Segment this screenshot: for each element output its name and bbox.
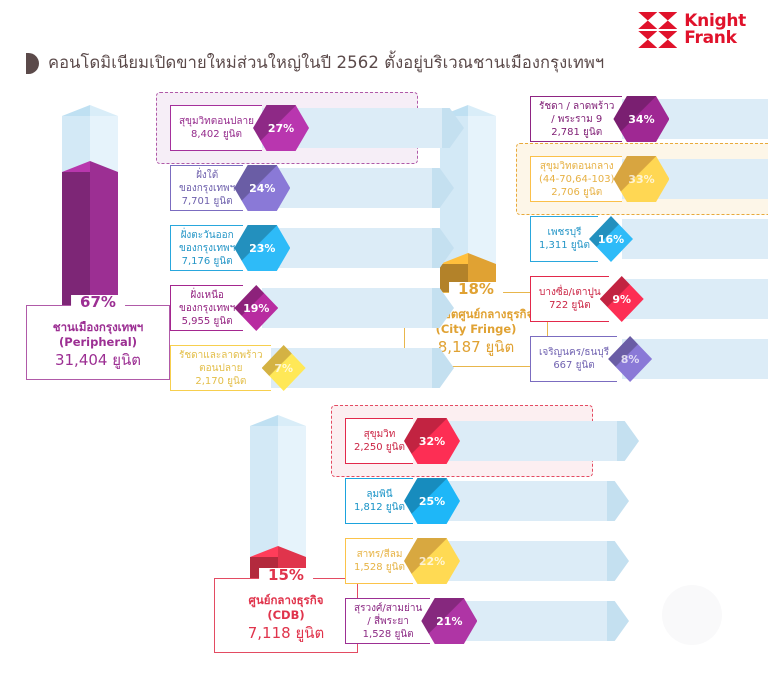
title-bullet-icon [26, 53, 39, 74]
row-hexagon-wrap: 23% [234, 225, 290, 271]
summary-units: 7,118 ยูนิต [219, 626, 353, 641]
row-units: 722 ยูนิต [549, 299, 590, 312]
row-label-line: ลุมพินี [366, 488, 392, 501]
row-hexagon-wrap: 33% [613, 156, 669, 202]
row-units: 2,250 ยูนิต [354, 441, 405, 454]
row-track-bar [622, 279, 768, 319]
row-label: สุรวงศ์/สามย่าน/ สี่พระยา1,528 ยูนิต [345, 598, 430, 644]
row-label-line: รัชดาและลาดพร้าว [179, 349, 263, 362]
row-hexagon-wrap: 25% [404, 478, 460, 524]
row-units: 8,402 ยูนิต [191, 128, 242, 141]
data-row-cbd-2[interactable]: สาทร/สีลม1,528 ยูนิต22% [345, 535, 460, 587]
row-percent-hexagon: 21% [421, 598, 477, 644]
row-label-line: ของกรุงเทพฯ [179, 242, 235, 255]
row-label-line: / สี่พระยา [367, 615, 408, 628]
row-units: 2,170 ยูนิต [195, 375, 246, 388]
row-track-bar [622, 219, 768, 259]
row-hexagon-wrap: 21% [421, 598, 477, 644]
row-hexagon-wrap: 27% [253, 105, 309, 151]
row-percent-hexagon: 9% [600, 276, 644, 322]
knight-frank-diamond-icon [638, 12, 678, 48]
watermark [662, 585, 722, 645]
row-units: 667 ยูนิต [553, 359, 594, 372]
row-hexagon-wrap: 19% [234, 285, 278, 331]
summary-units: 31,404 ยูนิต [31, 353, 165, 368]
data-row-peripheral-2[interactable]: ฝั่งตะวันออกของกรุงเทพฯ7,176 ยูนิต23% [170, 222, 290, 274]
row-percent-hexagon: 24% [234, 165, 290, 211]
row-units: 1,311 ยูนิต [539, 239, 590, 252]
brand-logo: Knight Frank [638, 12, 746, 48]
row-label: รัชดา / ลาดพร้าว/ พระราม 92,781 ยูนิต [530, 96, 622, 142]
row-label: สุขุมวิท2,250 ยูนิต [345, 418, 413, 464]
row-percent-hexagon: 32% [404, 418, 460, 464]
row-label-line: ของกรุงเทพฯ [179, 302, 235, 315]
row-units: 7,701 ยูนิต [182, 195, 233, 208]
row-hexagon-wrap: 22% [404, 538, 460, 584]
row-label: สุขุมวิทตอนปลาย8,402 ยูนิต [170, 105, 262, 151]
row-label-line: สุขุมวิทตอนกลาง [540, 160, 614, 173]
row-percent-hexagon: 19% [234, 285, 278, 331]
brand-name-line2: Frank [684, 30, 746, 47]
bar3d-peripheral [62, 105, 118, 305]
data-row-peripheral-0[interactable]: สุขุมวิทตอนปลาย8,402 ยูนิต27% [170, 102, 309, 154]
row-hexagon-wrap: 34% [613, 96, 669, 142]
row-label-line: ของกรุงเทพฯ [179, 182, 235, 195]
row-units: 2,781 ยูนิต [551, 126, 602, 139]
data-row-cbd-0[interactable]: สุขุมวิท2,250 ยูนิต32% [345, 415, 460, 467]
row-units: 7,176 ยูนิต [182, 255, 233, 268]
row-label-line: ตอนปลาย [199, 362, 242, 375]
row-percent-hexagon: 22% [404, 538, 460, 584]
row-percent-hexagon: 33% [613, 156, 669, 202]
row-percent-hexagon: 7% [262, 345, 306, 391]
row-label: เจริญนคร/ธนบุรี667 ยูนิต [530, 336, 617, 382]
row-units: 2,706 ยูนิต [551, 186, 602, 199]
row-hexagon-wrap: 9% [600, 276, 644, 322]
data-row-cbd-1[interactable]: ลุมพินี1,812 ยูนิต25% [345, 475, 460, 527]
row-label-line: ฝั่งใต้ [196, 169, 218, 182]
row-percent-hexagon: 8% [608, 336, 652, 382]
data-row-cbd-3[interactable]: สุรวงศ์/สามย่าน/ สี่พระยา1,528 ยูนิต21% [345, 595, 477, 647]
row-hexagon-wrap: 7% [262, 345, 306, 391]
summary-percent: 18% [449, 282, 503, 297]
row-label-line: ฝั่งตะวันออก [181, 229, 234, 242]
row-units: 5,955 ยูนิต [182, 315, 233, 328]
page-title: คอนโดมิเนียมเปิดขายใหม่ส่วนใหญ่ในปี 2562… [26, 50, 604, 76]
summary-name-en: (CDB) [219, 608, 353, 623]
data-row-city-fringe-3[interactable]: บางซื่อ/เตาปูน722 ยูนิต9% [530, 273, 644, 325]
data-row-peripheral-1[interactable]: ฝั่งใต้ของกรุงเทพฯ7,701 ยูนิต24% [170, 162, 290, 214]
row-label: ฝั่งตะวันออกของกรุงเทพฯ7,176 ยูนิต [170, 225, 243, 271]
data-row-peripheral-3[interactable]: ฝั่งเหนือของกรุงเทพฯ5,955 ยูนิต19% [170, 282, 278, 334]
row-hexagon-wrap: 16% [589, 216, 633, 262]
row-units: 1,812 ยูนิต [354, 501, 405, 514]
row-label: สาทร/สีลม1,528 ยูนิต [345, 538, 413, 584]
row-label-line: เจริญนคร/ธนบุรี [539, 346, 609, 359]
summary-percent: 67% [71, 295, 125, 310]
row-percent-hexagon: 23% [234, 225, 290, 271]
row-label-line: สาทร/สีลม [357, 548, 403, 561]
summary-box-peripheral: 67%ชานเมืองกรุงเทพฯ(Peripheral)31,404 ยู… [26, 305, 170, 380]
summary-name-th: ศูนย์กลางธุรกิจ [219, 593, 353, 608]
page-title-text: คอนโดมิเนียมเปิดขายใหม่ส่วนใหญ่ในปี 2562… [48, 50, 604, 76]
row-track-bar [437, 541, 613, 581]
row-percent-hexagon: 16% [589, 216, 633, 262]
row-label: รัชดาและลาดพร้าวตอนปลาย2,170 ยูนิต [170, 345, 271, 391]
row-track-bar [262, 288, 438, 328]
data-row-city-fringe-2[interactable]: เพชรบุรี1,311 ยูนิต16% [530, 213, 633, 265]
row-label-line: / พระราม 9 [551, 113, 602, 126]
row-hexagon-wrap: 32% [404, 418, 460, 464]
row-hexagon-wrap: 24% [234, 165, 290, 211]
row-label-line: สุรวงศ์/สามย่าน [354, 602, 422, 615]
row-label-line: บางซื่อ/เตาปูน [539, 286, 601, 299]
row-percent-hexagon: 27% [253, 105, 309, 151]
summary-name-th: ชานเมืองกรุงเทพฯ [31, 320, 165, 335]
row-label: ลุมพินี1,812 ยูนิต [345, 478, 413, 524]
row-label: ฝั่งเหนือของกรุงเทพฯ5,955 ยูนิต [170, 285, 243, 331]
bar3d-cbd [250, 415, 306, 575]
data-row-peripheral-4[interactable]: รัชดาและลาดพร้าวตอนปลาย2,170 ยูนิต7% [170, 342, 306, 394]
row-label-line: ฝั่งเหนือ [190, 289, 224, 302]
data-row-city-fringe-4[interactable]: เจริญนคร/ธนบุรี667 ยูนิต8% [530, 333, 652, 385]
summary-box-cbd: 15%ศูนย์กลางธุรกิจ(CDB)7,118 ยูนิต [214, 578, 358, 653]
row-label-line: สุขุมวิทตอนปลาย [179, 115, 254, 128]
row-track-bar [437, 421, 623, 461]
row-label: เพชรบุรี1,311 ยูนิต [530, 216, 598, 262]
row-label-line: (44-70,64-103) [539, 173, 614, 186]
row-track-bar [437, 481, 613, 521]
row-hexagon-wrap: 8% [608, 336, 652, 382]
row-units: 1,528 ยูนิต [354, 561, 405, 574]
row-label-line: รัชดา / ลาดพร้าว [539, 100, 614, 113]
data-row-city-fringe-0[interactable]: รัชดา / ลาดพร้าว/ พระราม 92,781 ยูนิต34% [530, 93, 669, 145]
data-row-city-fringe-1[interactable]: สุขุมวิทตอนกลาง(44-70,64-103)2,706 ยูนิต… [530, 153, 669, 205]
row-label-line: เพชรบุรี [548, 226, 582, 239]
summary-name-en: (Peripheral) [31, 335, 165, 350]
row-percent-hexagon: 34% [613, 96, 669, 142]
row-label: บางซื่อ/เตาปูน722 ยูนิต [530, 276, 609, 322]
row-label: ฝั่งใต้ของกรุงเทพฯ7,701 ยูนิต [170, 165, 243, 211]
brand-wordmark: Knight Frank [684, 13, 746, 47]
row-label-line: สุขุมวิท [364, 428, 396, 441]
row-percent-hexagon: 25% [404, 478, 460, 524]
summary-percent: 15% [259, 568, 313, 583]
row-units: 1,528 ยูนิต [363, 628, 414, 641]
row-label: สุขุมวิทตอนกลาง(44-70,64-103)2,706 ยูนิต [530, 156, 622, 202]
